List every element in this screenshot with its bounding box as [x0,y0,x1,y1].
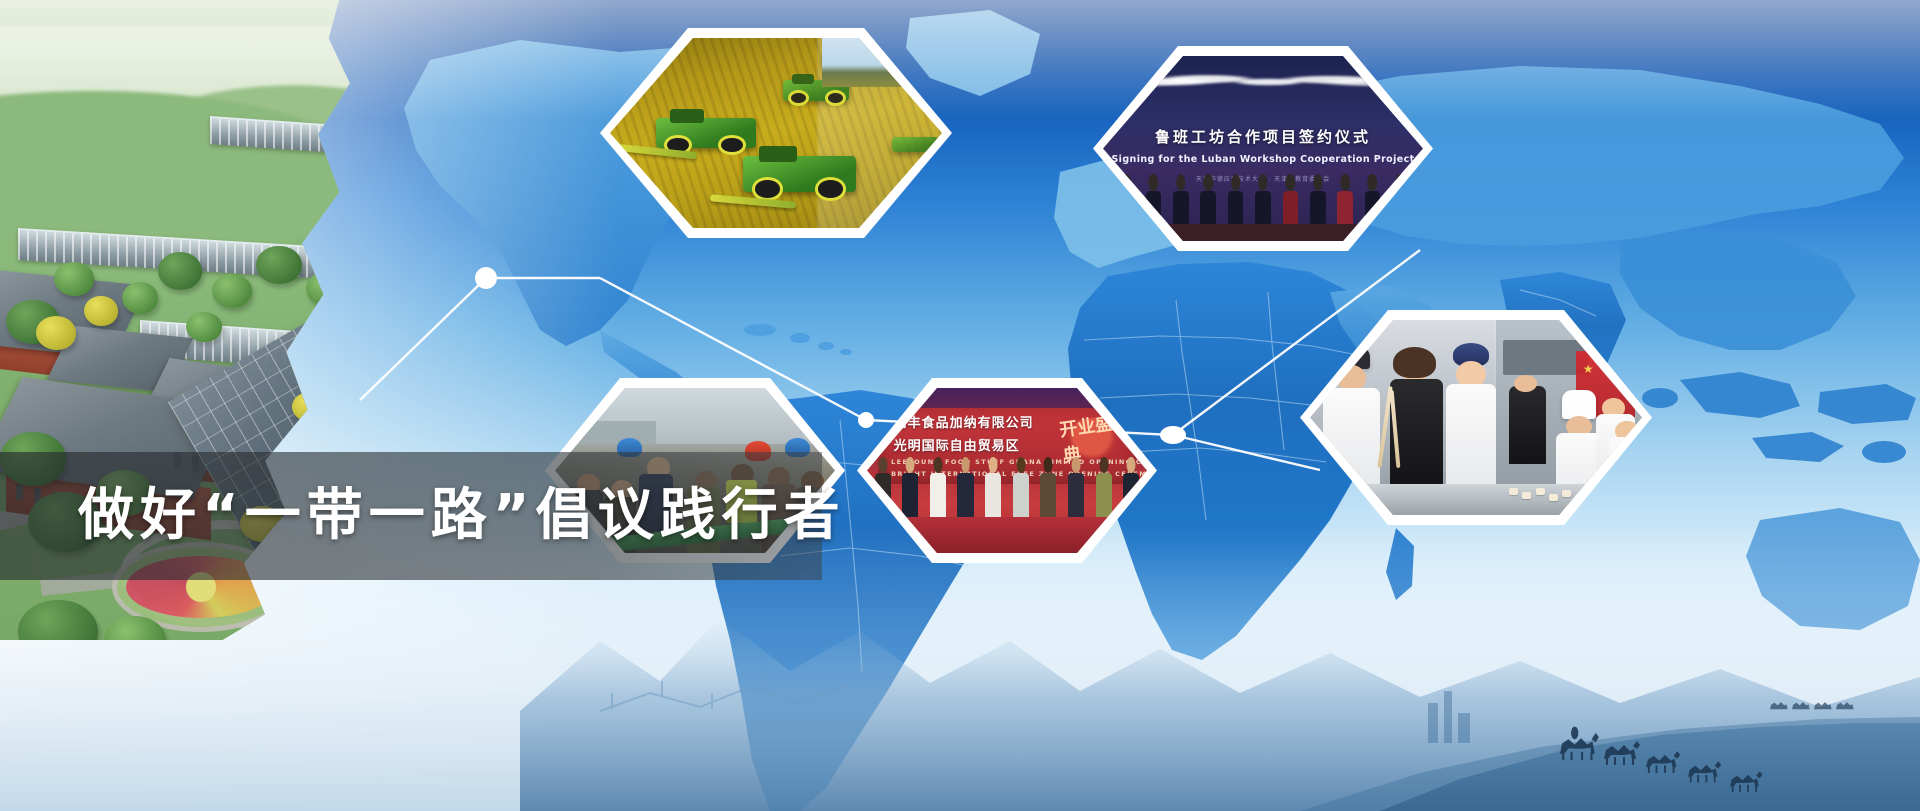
signing-table [1135,224,1391,241]
ceremony-banner-cn-line2: 光明国际自由贸易区 [894,435,1020,454]
ceremony-banner-cn-line1: 利丰食品加纳有限公司 [894,412,1034,431]
banner-hero: 鲁班工坊合作项目签约仪式 Signing for the Luban Works… [0,0,1920,811]
signing-attendees [1116,174,1410,230]
stage-lights [1122,67,1404,97]
combine-harvester [743,156,856,192]
combine-harvester [892,137,938,152]
luban-banner-chinese: 鲁班工坊合作项目签约仪式 [1155,126,1371,147]
luban-banner-english: Signing for the Luban Workshop Cooperati… [1111,154,1414,165]
ceremony-banner-seal: 开业盛典 [1059,414,1126,463]
ceremony-attendees [873,457,1142,523]
title-banner: 做好“一带一路”倡议践行者 [0,452,822,580]
combine-harvester [656,118,756,148]
page-title: 做好“一带一路”倡议践行者 [78,488,846,544]
